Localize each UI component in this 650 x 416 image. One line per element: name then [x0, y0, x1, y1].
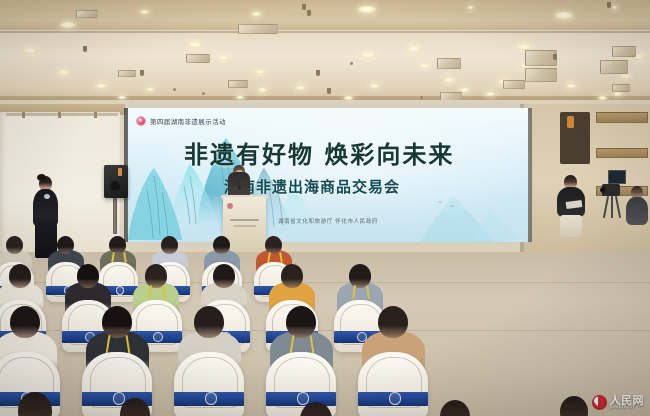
staff-hair-bun	[37, 174, 46, 181]
bird-glyph-icon: ~	[438, 200, 442, 206]
ceiling-near-section	[0, 30, 650, 104]
recessed-downlight	[486, 92, 495, 96]
recessed-downlight	[236, 96, 244, 99]
ceiling-sensor-icon	[202, 92, 205, 95]
camera-operator-legs	[560, 215, 582, 237]
attendee-head	[102, 306, 132, 338]
recessed-downlight	[613, 92, 622, 96]
shelf-ornament	[567, 116, 574, 128]
tripod-leg	[615, 196, 621, 218]
recessed-downlight	[258, 88, 267, 92]
sash-buckle-ring	[116, 286, 124, 294]
pa-speaker-cone-icon	[110, 181, 120, 191]
recessed-downlight	[620, 74, 631, 78]
ceiling-speaker-icon	[316, 70, 320, 76]
ceiling-sensor-icon	[173, 88, 176, 91]
screen-frame-right	[528, 108, 532, 242]
camera-operator	[556, 175, 586, 237]
pa-speaker-badge-icon	[118, 168, 122, 176]
screen-banner-tag: 第四届湖南非遗展示活动	[137, 116, 226, 126]
camera-operator-torso	[626, 197, 648, 225]
sash-buckle-ring	[205, 392, 218, 405]
recessed-downlight	[555, 12, 573, 19]
ceiling-seam	[0, 31, 650, 33]
recessed-downlight	[370, 84, 379, 88]
projection-screen: 第四届湖南非遗展示活动 非遗有好物 焕彩向未来 湖南非遗出海商品交易会 湖南省文…	[128, 108, 528, 242]
screen-subtitle: 湖南非遗出海商品交易会	[224, 180, 524, 195]
staff-face-mask-icon	[44, 194, 50, 199]
screen-organizers: 湖南省文化和旅游厅 怀化市人民政府	[278, 217, 508, 225]
recessed-downlight	[468, 6, 473, 9]
ceiling-speaker-icon	[302, 4, 306, 10]
ceiling-air-vent	[612, 84, 630, 92]
ceiling-sensor-icon	[350, 62, 353, 65]
bird-glyph-icon: ~	[450, 204, 454, 210]
shelf-board	[596, 148, 648, 158]
attendee-head	[194, 306, 224, 338]
screen-banner-tag-text: 第四届湖南非遗展示活动	[150, 116, 226, 126]
ceiling-air-vent	[612, 46, 636, 57]
watermark: 人民网 people.cn	[592, 395, 645, 411]
pa-loudspeaker	[104, 165, 128, 198]
alcove-clip	[58, 112, 61, 118]
ceiling-air-vent	[238, 24, 278, 34]
banquet-chair-with-cover	[358, 352, 428, 416]
ceiling-air-vent	[76, 10, 98, 18]
ceiling-air-vent	[437, 58, 461, 69]
attendee-head	[9, 264, 31, 288]
sash-buckle-ring	[389, 392, 402, 405]
ceiling-speaker-icon	[140, 70, 144, 76]
recessed-downlight	[419, 64, 430, 68]
shelf-dark-recess	[560, 112, 590, 164]
ceiling-speaker-icon	[553, 54, 557, 60]
ceiling-speaker-icon	[83, 46, 87, 52]
attendee-head	[213, 264, 235, 288]
sash-buckle-ring	[297, 392, 310, 405]
camera-lens-icon	[600, 187, 606, 193]
pa-speaker-stand	[113, 198, 117, 234]
ceiling-air-vent	[525, 68, 557, 82]
camera-operator	[626, 186, 648, 242]
watermark-cn: 人民网	[610, 395, 645, 406]
people-cn-logo-icon	[592, 395, 607, 410]
alcove-clip	[22, 112, 25, 118]
attendee-head	[77, 264, 99, 288]
alcove-clip	[94, 112, 97, 118]
recessed-downlight	[140, 10, 149, 14]
ceiling-air-vent	[503, 80, 525, 89]
recessed-downlight	[358, 6, 376, 13]
recessed-downlight	[407, 46, 421, 52]
watermark-en: people.cn	[610, 406, 645, 411]
ceiling-air-vent	[118, 70, 136, 77]
attendee-head	[6, 236, 23, 254]
ceiling-speaker-icon	[607, 2, 611, 8]
red-seal-dot-icon	[137, 117, 145, 125]
watermark-text: 人民网 people.cn	[610, 395, 645, 411]
recessed-downlight	[118, 96, 126, 99]
recessed-downlight	[296, 86, 305, 90]
lectern-text-line	[230, 219, 259, 221]
tripod-leg	[603, 196, 609, 218]
video-camera-on-tripod	[600, 180, 624, 220]
recessed-downlight	[444, 78, 454, 82]
recessed-downlight	[360, 52, 376, 58]
recessed-downlight	[60, 22, 76, 28]
tripod-leg	[611, 196, 613, 218]
conference-photo-scene: 第四届湖南非遗展示活动 非遗有好物 焕彩向未来 湖南非遗出海商品交易会 湖南省文…	[0, 0, 650, 416]
recessed-downlight	[612, 6, 617, 9]
ceiling-speaker-icon	[307, 10, 311, 16]
recessed-downlight	[566, 84, 576, 88]
attendee-head	[378, 306, 408, 338]
recessed-downlight	[218, 56, 229, 60]
shelf-board	[596, 112, 648, 123]
recessed-downlight	[188, 42, 202, 48]
recessed-downlight	[22, 48, 38, 54]
screen-main-title: 非遗有好物 焕彩向未来	[184, 143, 528, 167]
banquet-chair-with-cover	[174, 352, 244, 416]
recessed-downlight	[146, 88, 154, 91]
recessed-downlight	[255, 70, 265, 74]
ceiling-air-vent	[228, 80, 248, 88]
recessed-downlight	[96, 84, 107, 88]
ceiling-sensor-icon	[420, 96, 423, 99]
ceiling-air-vent	[600, 60, 628, 74]
ceiling-air-vent	[186, 54, 210, 63]
recessed-downlight	[252, 12, 261, 16]
ceiling-speaker-icon	[327, 88, 331, 94]
lectern-logo-icon	[227, 203, 233, 209]
attendee-head	[286, 306, 316, 338]
recessed-downlight	[57, 70, 70, 75]
attendee-head	[281, 264, 303, 288]
lectern-text-line	[233, 225, 256, 227]
attendee-head	[10, 306, 40, 338]
